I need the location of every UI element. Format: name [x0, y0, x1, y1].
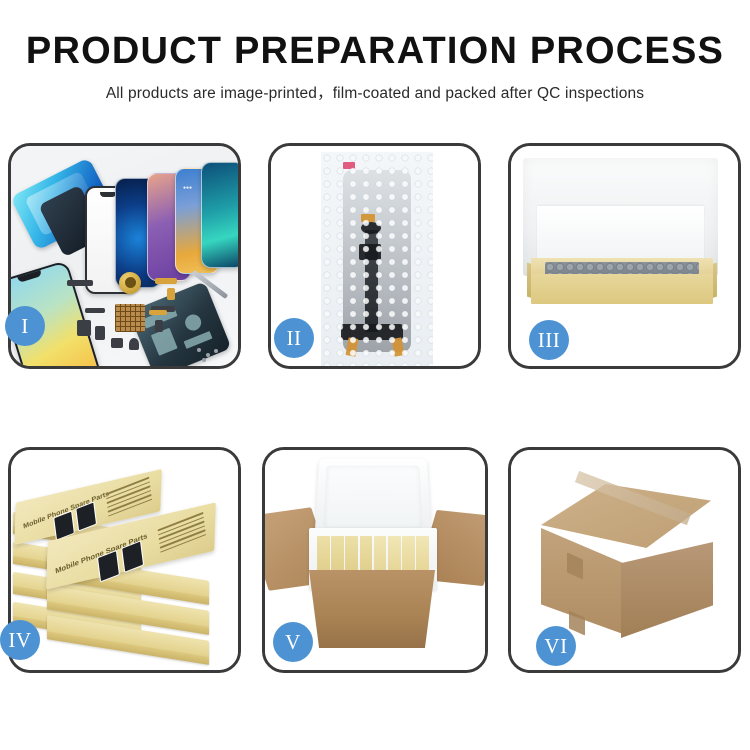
step-badge-4: IV — [0, 620, 40, 660]
step-badge-5: V — [273, 622, 313, 662]
step-badge-6: VI — [536, 626, 576, 666]
part-button — [111, 338, 123, 348]
flex-cable-icon — [167, 288, 175, 300]
foam-lid-open-icon — [315, 458, 432, 536]
spare-parts-group — [71, 276, 221, 366]
box-spec-lines — [158, 512, 207, 556]
part-connector — [95, 326, 105, 340]
vibration-motor-icon — [119, 272, 141, 294]
part-sim-tray — [155, 320, 163, 332]
process-steps-grid: ●●● — [0, 0, 750, 750]
part-bracket — [85, 308, 105, 313]
step-panel-4: Mobile Phone Spare Parts Mobile Phone Sp… — [8, 447, 241, 673]
chip-grid-icon — [115, 304, 145, 332]
carton-body — [309, 570, 435, 648]
part-camera — [129, 338, 139, 350]
box-stack-group: Mobile Phone Spare Parts Mobile Phone Sp… — [13, 464, 238, 664]
screw-icon — [214, 349, 218, 353]
phone-teal-screen-icon — [201, 162, 238, 268]
step-badge-3: III — [529, 320, 569, 360]
phone-status-bar: ●●● — [183, 185, 192, 191]
box-edge — [47, 631, 209, 665]
screws-group — [197, 348, 219, 362]
product-preparation-page: PRODUCT PREPARATION PROCESS All products… — [0, 0, 750, 750]
part-connector — [77, 320, 91, 336]
step-panel-3: III — [508, 143, 741, 369]
step-panel-2: II — [268, 143, 481, 369]
bubble-texture-overlay — [321, 152, 433, 366]
box-front-face — [531, 274, 713, 304]
screw-icon — [202, 358, 206, 362]
step-1-image: ●●● — [11, 146, 238, 366]
yellow-box-open — [531, 258, 713, 304]
screw-icon — [206, 353, 210, 357]
step-badge-1: I — [5, 306, 45, 346]
step-panel-5: V — [262, 447, 488, 673]
step-panel-6: VI — [508, 447, 741, 673]
step-panel-1: ●●● — [8, 143, 241, 369]
screw-icon — [197, 348, 201, 352]
step-4-image: Mobile Phone Spare Parts Mobile Phone Sp… — [11, 450, 238, 670]
phone-fan-group: ●●● — [81, 160, 238, 295]
part-speaker — [67, 280, 93, 286]
box-spec-lines — [105, 477, 152, 520]
flex-cable-icon — [149, 310, 167, 315]
flex-cable-icon — [155, 278, 177, 284]
step-badge-2: II — [274, 318, 314, 358]
